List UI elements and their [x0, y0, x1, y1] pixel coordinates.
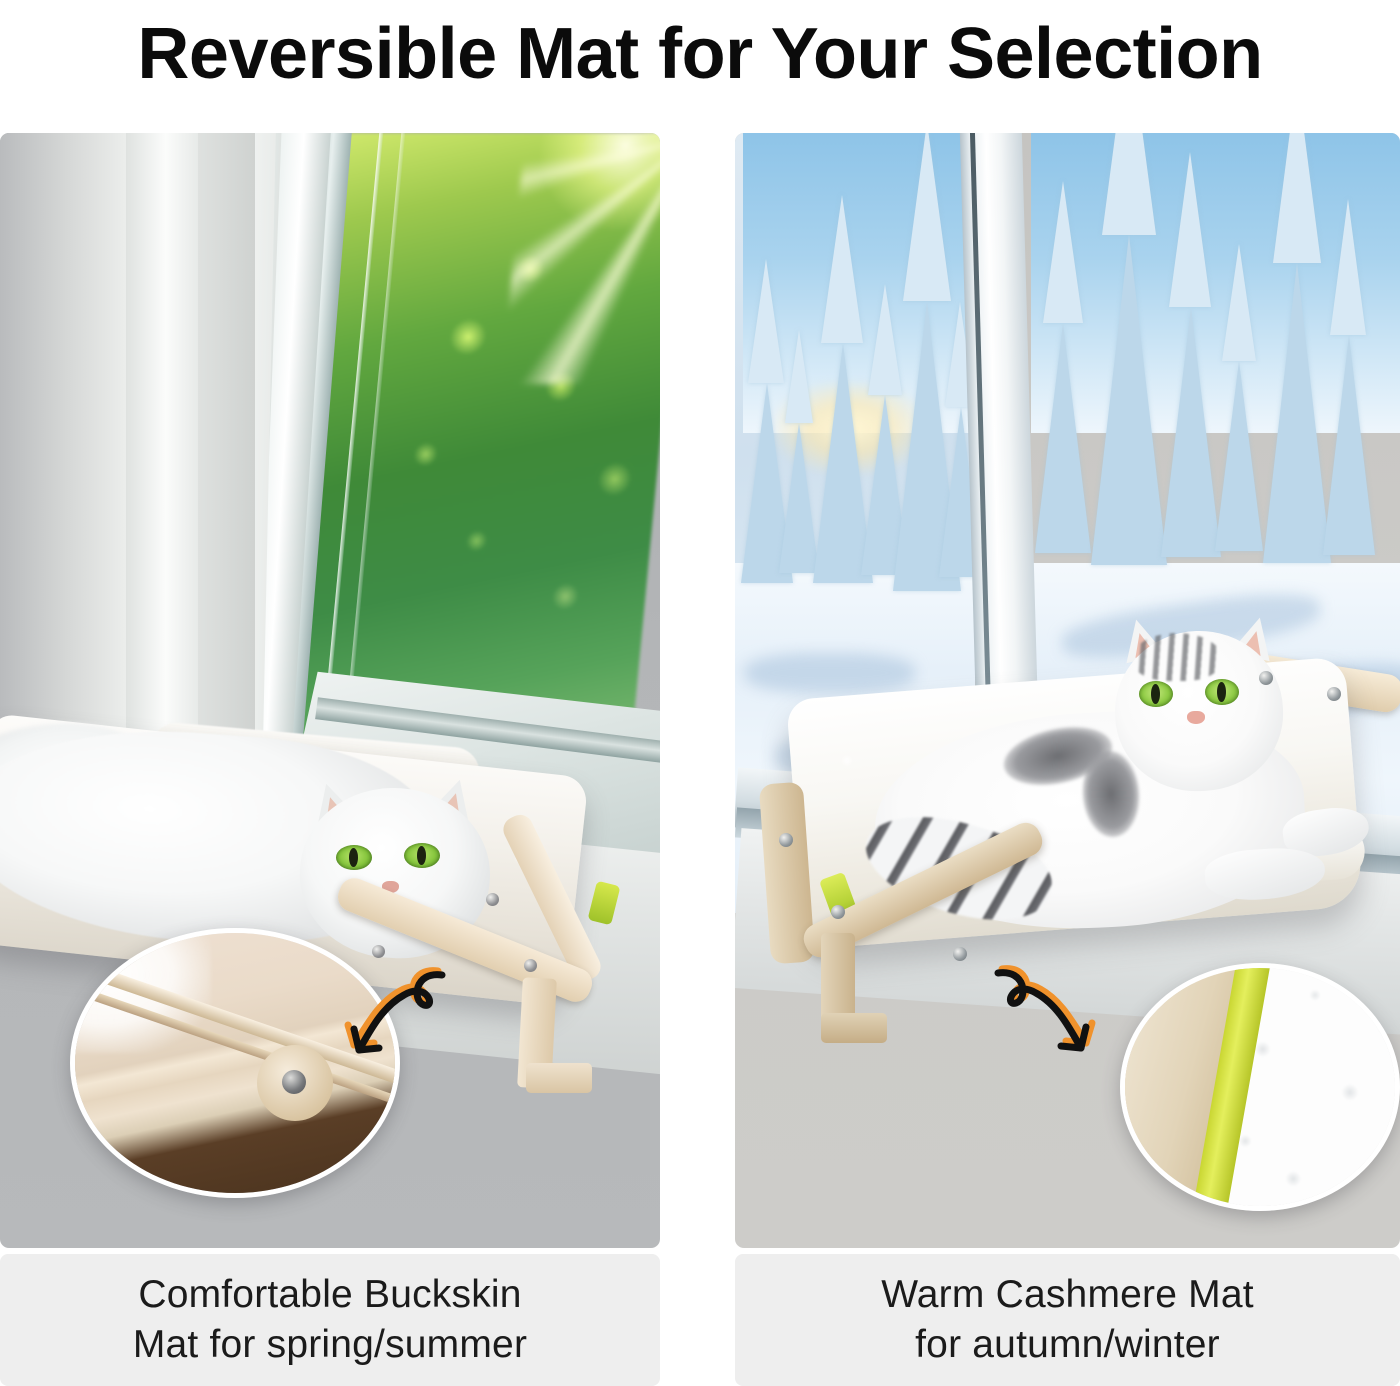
autumn-winter-panel[interactable]: [735, 133, 1400, 1248]
screw-icon: [831, 905, 845, 919]
cat-eye-left: [336, 845, 372, 870]
autumn-winter-photo: [735, 133, 1400, 1248]
product-infographic: Reversible Mat for Your Selection: [0, 0, 1400, 1386]
bracket-hook-foot: [526, 1063, 592, 1093]
cat-eye-left: [1139, 681, 1173, 707]
screw-icon: [524, 959, 537, 972]
cat-nose: [1187, 711, 1205, 724]
cat-pupil: [1151, 684, 1160, 704]
screw-icon: [282, 1070, 306, 1094]
snow-shadow: [745, 653, 915, 693]
cat-pupil: [349, 848, 358, 867]
spring-summer-panel[interactable]: [0, 133, 660, 1248]
cat-eye-right: [1205, 679, 1239, 705]
cat-head-marking: [1133, 633, 1221, 681]
caption-text-right: Warm Cashmere Mat for autumn/winter: [881, 1270, 1254, 1370]
screw-icon: [953, 947, 967, 961]
bracket-hook-foot: [821, 1013, 887, 1043]
snowy-pine-tree: [1263, 263, 1331, 563]
snowy-pine-tree: [1091, 235, 1167, 565]
caption-panel-left: Comfortable Buckskin Mat for spring/summ…: [0, 1254, 660, 1386]
sun-flare: [502, 133, 660, 384]
caption-panel-right: Warm Cashmere Mat for autumn/winter: [735, 1254, 1400, 1386]
cat-pupil: [1217, 682, 1226, 702]
curved-arrow-left-icon: [338, 963, 448, 1083]
page-title: Reversible Mat for Your Selection: [0, 4, 1400, 104]
spring-summer-photo: [0, 133, 660, 1248]
snowy-pine-tree: [1161, 307, 1221, 557]
cat-eye-right: [404, 843, 440, 868]
cat-pupil: [417, 846, 426, 865]
snowy-pine-tree: [1215, 361, 1263, 551]
cashmere-mat-closeup-inset[interactable]: [1120, 963, 1400, 1211]
caption-text-left: Comfortable Buckskin Mat for spring/summ…: [133, 1270, 527, 1370]
screw-icon: [779, 833, 793, 847]
inset-photo: [1120, 963, 1400, 1211]
screw-icon: [1259, 671, 1273, 685]
screw-icon: [486, 893, 499, 906]
snowy-pine-tree: [1323, 335, 1375, 555]
snowy-pine-tree: [1035, 323, 1091, 553]
screw-icon: [1327, 687, 1341, 701]
curved-arrow-right-icon: [990, 961, 1100, 1081]
